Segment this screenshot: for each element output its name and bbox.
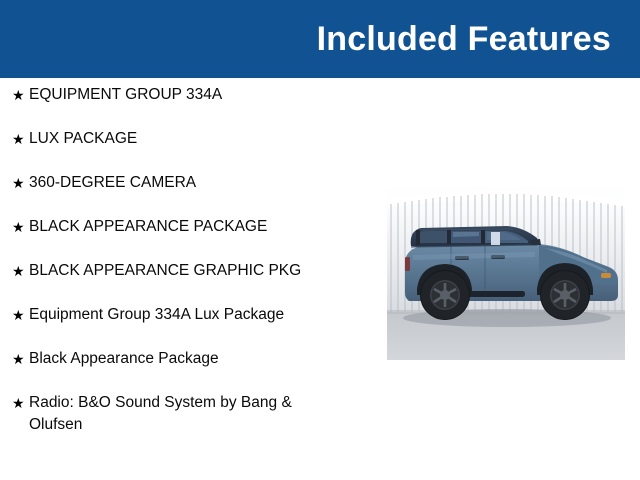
vehicle-photo	[387, 185, 625, 360]
feature-label: Radio: B&O Sound System by Bang & Olufse…	[29, 392, 329, 436]
feature-label: LUX PACKAGE	[29, 128, 329, 150]
list-item: ★ BLACK APPEARANCE GRAPHIC PKG	[0, 260, 375, 282]
feature-label: BLACK APPEARANCE GRAPHIC PKG	[29, 260, 329, 282]
star-bullet-icon: ★	[12, 392, 29, 414]
star-bullet-icon: ★	[12, 260, 29, 282]
page-header: Included Features	[0, 0, 640, 78]
included-features-list: ★ EQUIPMENT GROUP 334A ★ LUX PACKAGE ★ 3…	[0, 84, 375, 458]
list-item: ★ Radio: B&O Sound System by Bang & Oluf…	[0, 392, 375, 436]
feature-label: Equipment Group 334A Lux Package	[29, 304, 329, 326]
list-item: ★ EQUIPMENT GROUP 334A	[0, 84, 375, 106]
feature-label: EQUIPMENT GROUP 334A	[29, 84, 329, 106]
feature-label: 360-DEGREE CAMERA	[29, 172, 329, 194]
feature-label: BLACK APPEARANCE PACKAGE	[29, 216, 329, 238]
list-item: ★ 360-DEGREE CAMERA	[0, 172, 375, 194]
feature-label: Black Appearance Package	[29, 348, 329, 370]
star-bullet-icon: ★	[12, 348, 29, 370]
star-bullet-icon: ★	[12, 128, 29, 150]
list-item: ★ BLACK APPEARANCE PACKAGE	[0, 216, 375, 238]
list-item: ★ LUX PACKAGE	[0, 128, 375, 150]
page-title: Included Features	[317, 22, 611, 56]
star-bullet-icon: ★	[12, 216, 29, 238]
star-bullet-icon: ★	[12, 172, 29, 194]
star-bullet-icon: ★	[12, 84, 29, 106]
content-area: ★ EQUIPMENT GROUP 334A ★ LUX PACKAGE ★ 3…	[0, 78, 640, 480]
list-item: ★ Black Appearance Package	[0, 348, 375, 370]
star-bullet-icon: ★	[12, 304, 29, 326]
list-item: ★ Equipment Group 334A Lux Package	[0, 304, 375, 326]
